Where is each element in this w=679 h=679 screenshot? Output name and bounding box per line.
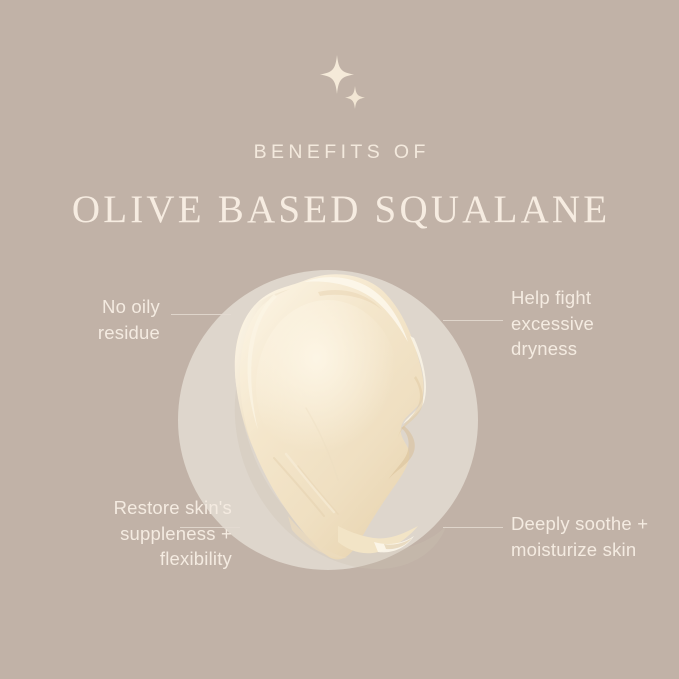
benefit-label-restore-skins-suppleness-flexibility: Restore skin's suppleness + flexibility: [17, 495, 232, 572]
benefits-infographic: BENEFITS OF OLIVE BASED SQUALANE: [0, 0, 679, 679]
page-title: OLIVE BASED SQUALANE: [0, 187, 679, 232]
sparkle-icon: [303, 53, 383, 115]
connector-line-top-right: [443, 320, 503, 321]
benefit-label-no-oily-residue: No oily residue: [0, 294, 160, 345]
benefit-label-help-fight-excessive-dryness: Help fight excessive dryness: [511, 285, 679, 362]
eyebrow-heading: BENEFITS OF: [0, 141, 679, 164]
connector-line-top-left: [171, 314, 231, 315]
connector-line-bottom-right: [443, 527, 503, 528]
benefit-label-deeply-soothe-moisturize-skin: Deeply soothe + moisturize skin: [511, 511, 679, 562]
